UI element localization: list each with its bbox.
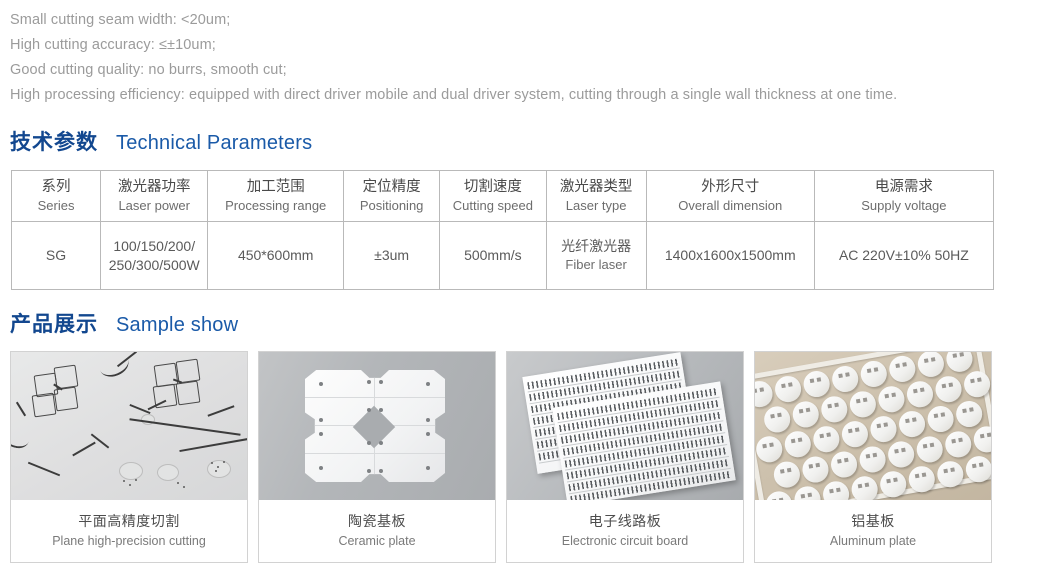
column-header-laser-type: 激光器类型 Laser type — [546, 171, 646, 222]
sample-card-grid: 平面高精度切割 Plane high-precision cutting — [10, 351, 1002, 563]
intro-line-4: High processing efficiency: equipped wit… — [10, 83, 1042, 108]
intro-line-2: High cutting accuracy: ≤±10um; — [10, 33, 1042, 58]
cell-series: SG — [12, 222, 101, 290]
aluminum-disc — [829, 449, 859, 479]
sample-caption-cn: 电子线路板 — [589, 511, 662, 532]
aluminum-disc — [821, 479, 851, 500]
column-header-en: Cutting speed — [443, 197, 542, 215]
aluminum-disc — [916, 352, 946, 379]
cell-supply-voltage: AC 220V±10% 50HZ — [814, 222, 993, 290]
column-header-series: 系列 Series — [12, 171, 101, 222]
cell-value: 450*600mm — [211, 246, 340, 265]
aluminum-disc — [926, 404, 956, 434]
sample-image-aluminum-plate — [755, 352, 991, 500]
cell-value: 100/150/200/ 250/300/500W — [104, 237, 204, 275]
column-header-overall-dimension: 外形尺寸 Overall dimension — [646, 171, 814, 222]
cell-laser-type: 光纤激光器 Fiber laser — [546, 222, 646, 290]
sample-card-ceramic-plate[interactable]: 陶瓷基板 Ceramic plate — [258, 351, 496, 563]
aluminum-disc — [868, 414, 898, 444]
sample-card-aluminum-plate[interactable]: 铝基板 Aluminum plate — [754, 351, 992, 563]
cell-value: AC 220V±10% 50HZ — [818, 246, 990, 265]
aluminum-disc — [943, 429, 973, 459]
aluminum-disc — [858, 444, 888, 474]
ceramic-plate-graphic — [305, 370, 445, 482]
cell-processing-range: 450*600mm — [208, 222, 344, 290]
section-heading-technical-parameters: 技术参数 Technical Parameters — [0, 126, 1042, 156]
column-header-en: Laser power — [104, 197, 204, 215]
cell-subvalue: Fiber laser — [550, 256, 643, 274]
intro-line-1: Small cutting seam width: <20um; — [10, 8, 1042, 33]
aluminum-disc — [897, 409, 927, 439]
intro-line-3: Good cutting quality: no burrs, smooth c… — [10, 58, 1042, 83]
aluminum-disc — [915, 434, 945, 464]
column-header-en: Series — [15, 197, 97, 215]
cell-positioning: ±3um — [344, 222, 440, 290]
column-header-cn: 激光器类型 — [550, 177, 643, 197]
aluminum-disc — [840, 419, 870, 449]
aluminum-disc — [876, 384, 906, 414]
sample-image-ceramic-plate — [259, 352, 495, 500]
sample-caption: 平面高精度切割 Plane high-precision cutting — [11, 500, 247, 562]
column-header-en: Positioning — [347, 197, 436, 215]
column-header-cn: 系列 — [15, 177, 97, 197]
aluminum-disc — [905, 379, 935, 409]
aluminum-disc — [850, 474, 880, 500]
aluminum-disc — [859, 359, 889, 389]
table-row: SG 100/150/200/ 250/300/500W 450*600mm ±… — [12, 222, 994, 290]
cell-cutting-speed: 500mm/s — [440, 222, 546, 290]
cell-value: 500mm/s — [443, 246, 542, 265]
aluminum-disc — [811, 424, 841, 454]
sample-card-plane-high-precision-cutting[interactable]: 平面高精度切割 Plane high-precision cutting — [10, 351, 248, 563]
aluminum-disc — [933, 374, 963, 404]
column-header-en: Laser type — [550, 197, 643, 215]
sample-caption-cn: 陶瓷基板 — [348, 511, 406, 532]
sample-caption-en: Electronic circuit board — [562, 532, 688, 551]
cell-value: 光纤激光器 — [550, 237, 643, 256]
aluminum-disc — [783, 429, 813, 459]
aluminum-disc — [848, 389, 878, 419]
aluminum-disc-panel — [755, 352, 991, 500]
aluminum-disc — [762, 404, 792, 434]
spec-table: 系列 Series 激光器功率 Laser power 加工范围 Process… — [11, 170, 994, 290]
aluminum-disc — [954, 399, 984, 429]
aluminum-disc — [887, 354, 917, 384]
aluminum-disc — [755, 434, 784, 464]
spec-table-header-row: 系列 Series 激光器功率 Laser power 加工范围 Process… — [12, 171, 994, 222]
column-header-cn: 切割速度 — [443, 177, 542, 197]
section-heading-cn: 产品展示 — [10, 308, 98, 338]
cell-laser-power: 100/150/200/ 250/300/500W — [101, 222, 208, 290]
sample-image-plane-high-precision-cutting — [11, 352, 247, 500]
column-header-cn: 定位精度 — [347, 177, 436, 197]
cell-value: SG — [15, 246, 97, 265]
aluminum-disc — [792, 484, 822, 500]
section-heading-sample-show: 产品展示 Sample show — [0, 308, 1042, 338]
column-header-supply-voltage: 电源需求 Supply voltage — [814, 171, 993, 222]
column-header-processing-range: 加工范围 Processing range — [208, 171, 344, 222]
column-header-cn: 电源需求 — [818, 177, 990, 197]
sample-card-electronic-circuit-board[interactable]: 电子线路板 Electronic circuit board — [506, 351, 744, 563]
column-header-en: Processing range — [211, 197, 340, 215]
sample-caption-en: Plane high-precision cutting — [52, 532, 206, 551]
cell-value: 1400x1600x1500mm — [650, 246, 811, 265]
column-header-en: Supply voltage — [818, 197, 990, 215]
intro-block: Small cutting seam width: <20um; High cu… — [0, 0, 1042, 108]
aluminum-disc — [886, 439, 916, 469]
aluminum-disc — [972, 424, 991, 454]
cell-overall-dimension: 1400x1600x1500mm — [646, 222, 814, 290]
aluminum-disc — [772, 460, 802, 490]
aluminum-disc — [830, 364, 860, 394]
sample-caption-cn: 平面高精度切割 — [78, 511, 180, 532]
aluminum-disc — [764, 489, 794, 500]
aluminum-disc — [819, 394, 849, 424]
column-header-en: Overall dimension — [650, 197, 811, 215]
aluminum-disc — [800, 454, 830, 484]
column-header-cutting-speed: 切割速度 Cutting speed — [440, 171, 546, 222]
column-header-laser-power: 激光器功率 Laser power — [101, 171, 208, 222]
column-header-positioning: 定位精度 Positioning — [344, 171, 440, 222]
column-header-cn: 激光器功率 — [104, 177, 204, 197]
spec-table-wrapper: 系列 Series 激光器功率 Laser power 加工范围 Process… — [11, 170, 994, 290]
section-heading-en: Sample show — [116, 314, 238, 337]
cell-value: ±3um — [347, 246, 436, 265]
aluminum-disc — [773, 374, 803, 404]
sample-caption-en: Aluminum plate — [830, 532, 916, 551]
sample-caption-cn: 铝基板 — [851, 511, 895, 532]
column-header-cn: 外形尺寸 — [650, 177, 811, 197]
sample-caption-en: Ceramic plate — [338, 532, 415, 551]
aluminum-disc — [802, 369, 832, 399]
sample-image-electronic-circuit-board — [507, 352, 743, 500]
aluminum-disc — [944, 352, 974, 374]
sample-caption: 陶瓷基板 Ceramic plate — [259, 500, 495, 562]
aluminum-disc — [755, 379, 775, 409]
aluminum-disc — [791, 399, 821, 429]
section-heading-cn: 技术参数 — [10, 126, 98, 156]
sample-caption: 电子线路板 Electronic circuit board — [507, 500, 743, 562]
section-heading-en: Technical Parameters — [116, 132, 312, 155]
column-header-cn: 加工范围 — [211, 177, 340, 197]
sample-caption: 铝基板 Aluminum plate — [755, 500, 991, 562]
